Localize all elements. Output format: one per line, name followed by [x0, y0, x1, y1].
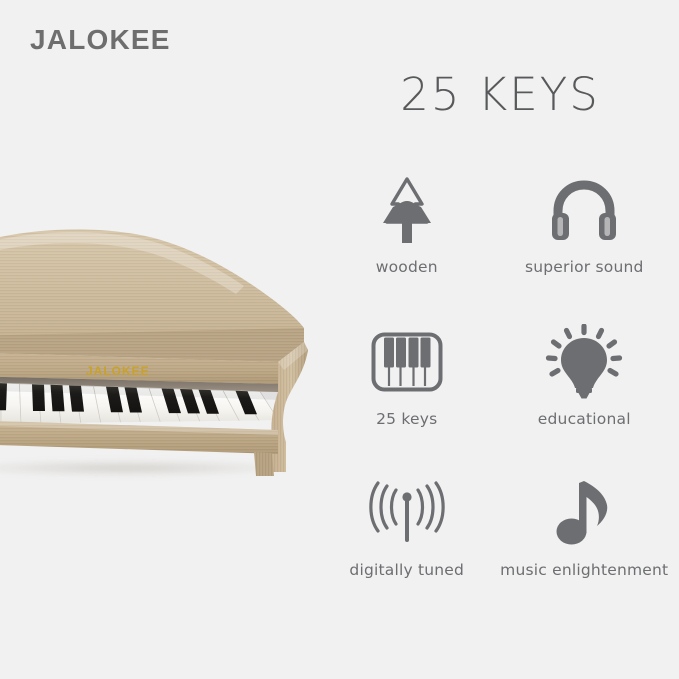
music-note-icon [496, 471, 674, 555]
feature-label: music enlightenment [500, 561, 668, 579]
piano-lid [0, 229, 304, 362]
toy-grand-piano-illustration: JALOKEE [0, 224, 316, 494]
feature-digitally-tuned: digitally tuned [318, 465, 496, 617]
feature-educational: educational [496, 314, 674, 466]
feature-wooden: wooden [318, 162, 496, 314]
feature-label: superior sound [525, 258, 644, 276]
fallboard-logo: JALOKEE [86, 364, 150, 378]
lightbulb-icon [496, 320, 674, 404]
infographic-canvas: JALOKEE 25 KEYS [0, 0, 679, 679]
feature-label: educational [538, 410, 631, 428]
piano-base-rail [0, 420, 278, 454]
feature-superior-sound: superior sound [496, 162, 674, 314]
feature-label: digitally tuned [349, 561, 464, 579]
feature-25-keys: 25 keys [318, 314, 496, 466]
feature-label: 25 keys [376, 410, 437, 428]
feature-label: wooden [376, 258, 438, 276]
page-title: 25 KEYS [330, 68, 670, 121]
feature-music-enlightenment: music enlightenment [496, 465, 674, 617]
product-image: JALOKEE [0, 224, 316, 494]
pine-tree-icon [318, 168, 496, 252]
headphones-icon [496, 168, 674, 252]
brand-logo: JALOKEE [30, 24, 171, 56]
piano-keys-icon [318, 320, 496, 404]
signal-antenna-icon [318, 471, 496, 555]
feature-grid: wooden superior sound [318, 162, 673, 617]
